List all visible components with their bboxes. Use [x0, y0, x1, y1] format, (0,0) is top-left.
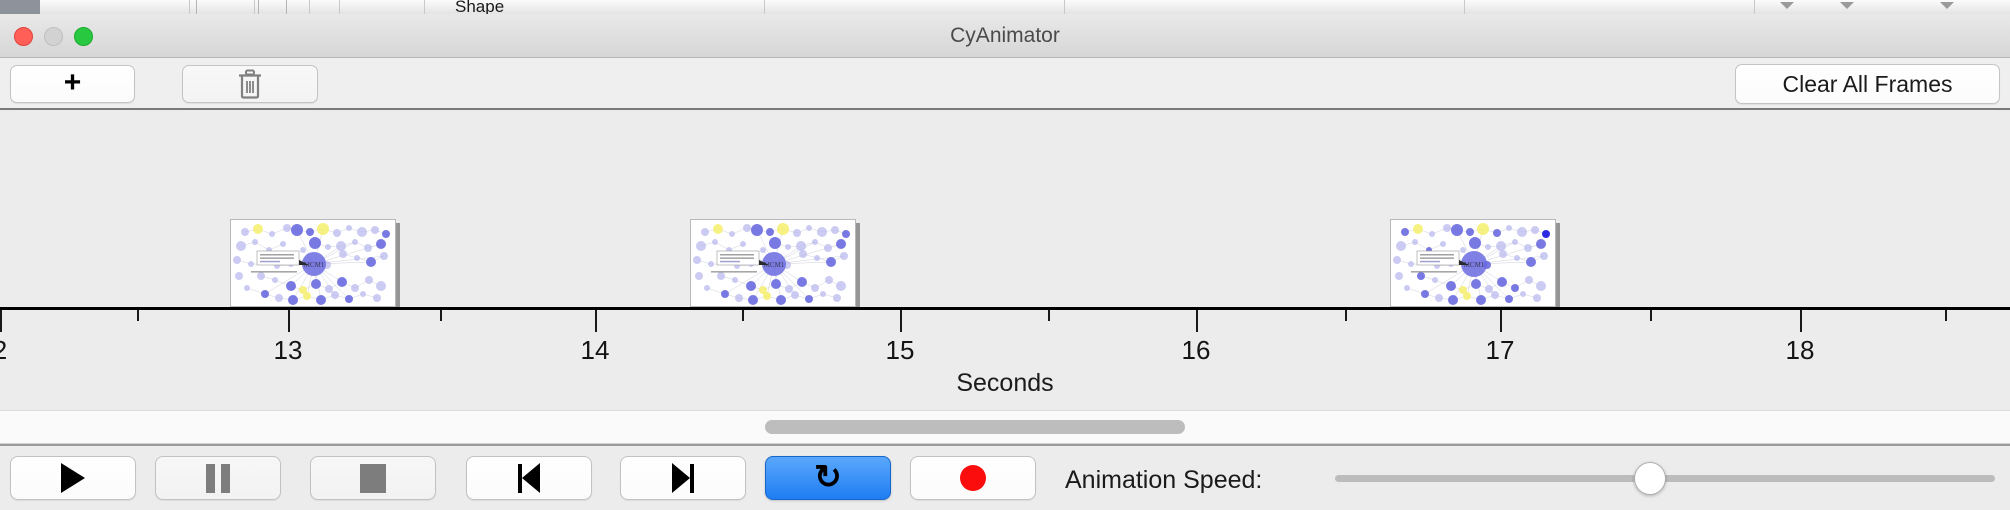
ruler-tick: [900, 310, 902, 332]
play-icon: [61, 463, 85, 493]
ruler-tick-label: 13: [274, 335, 303, 366]
ruler-tick-label: 16: [1182, 335, 1211, 366]
stop-icon: [360, 464, 386, 493]
skip-next-icon: [672, 463, 694, 493]
ruler-tick: [742, 310, 744, 321]
animation-speed-label: Animation Speed:: [1065, 466, 1262, 495]
network-graph: MCM1: [1391, 220, 1555, 306]
ruler-tick-label: 15: [886, 335, 915, 366]
pause-icon: [206, 464, 230, 493]
keyframe-3[interactable]: MCM1: [1390, 219, 1556, 307]
loop-button[interactable]: ↻: [765, 456, 891, 500]
clear-all-frames-button[interactable]: Clear All Frames: [1735, 64, 2000, 104]
traffic-lights: [14, 27, 93, 46]
axis-title: Seconds: [0, 369, 2010, 398]
ruler-tick: [0, 310, 2, 332]
time-ruler[interactable]: 2131415161718 Seconds: [0, 307, 2010, 410]
delete-frame-button[interactable]: [182, 65, 318, 103]
trash-icon: [237, 69, 263, 99]
play-button[interactable]: [10, 456, 136, 500]
title-bar: CyAnimator: [0, 14, 2010, 58]
ruler-tick: [1500, 310, 1502, 332]
keyframe-thumbnail: MCM1: [231, 220, 395, 306]
ruler-tick-label: 18: [1786, 335, 1815, 366]
window-title: CyAnimator: [950, 24, 1060, 48]
clear-all-frames-label: Clear All Frames: [1783, 71, 1953, 98]
ruler-tick: [288, 310, 290, 332]
minimize-icon[interactable]: [44, 27, 63, 46]
cyanimator-window: Shape CyAnimator + Clear All Frames: [0, 0, 2010, 510]
ruler-tick-label: 14: [581, 335, 610, 366]
network-graph: MCM1: [231, 220, 395, 306]
pause-button[interactable]: [155, 456, 281, 500]
scrollbar-thumb[interactable]: [765, 420, 1185, 434]
toolbar: + Clear All Frames: [0, 58, 2010, 110]
ruler-tick: [595, 310, 597, 332]
ruler-baseline: [0, 307, 2010, 310]
animation-speed-slider[interactable]: [1335, 456, 1995, 500]
ruler-tick: [1196, 310, 1198, 332]
ruler-tick: [137, 310, 139, 321]
ruler-tick: [1800, 310, 1802, 332]
ruler-tick-label: 2: [0, 335, 7, 366]
ruler-tick: [440, 310, 442, 321]
skip-previous-icon: [518, 463, 540, 493]
playback-controls: ↻ Animation Speed:: [0, 444, 2010, 510]
previous-frame-button[interactable]: [466, 456, 592, 500]
background-window-label: Shape: [455, 0, 504, 14]
ruler-tick: [1945, 310, 1947, 321]
horizontal-scrollbar[interactable]: [0, 410, 2010, 444]
plus-icon: +: [64, 68, 82, 98]
keyframe-1[interactable]: MCM1: [230, 219, 396, 307]
ruler-tick: [1345, 310, 1347, 321]
close-icon[interactable]: [14, 27, 33, 46]
maximize-icon[interactable]: [74, 27, 93, 46]
add-frame-button[interactable]: +: [10, 65, 135, 103]
network-graph: MCM1: [691, 220, 855, 306]
keyframe-thumbnail: MCM1: [1391, 220, 1555, 306]
record-button[interactable]: [910, 456, 1036, 500]
background-window-strip: Shape: [0, 0, 2010, 14]
next-frame-button[interactable]: [620, 456, 746, 500]
stop-button[interactable]: [310, 456, 436, 500]
loop-icon: ↻: [814, 460, 842, 493]
ruler-tick-label: 17: [1486, 335, 1515, 366]
record-icon: [960, 465, 986, 491]
keyframe-track[interactable]: MCM1MCM1MCM1: [0, 110, 2010, 307]
keyframe-2[interactable]: MCM1: [690, 219, 856, 307]
ruler-tick: [1650, 310, 1652, 321]
ruler-tick: [1048, 310, 1050, 321]
slider-thumb[interactable]: [1634, 462, 1666, 495]
keyframe-thumbnail: MCM1: [691, 220, 855, 306]
